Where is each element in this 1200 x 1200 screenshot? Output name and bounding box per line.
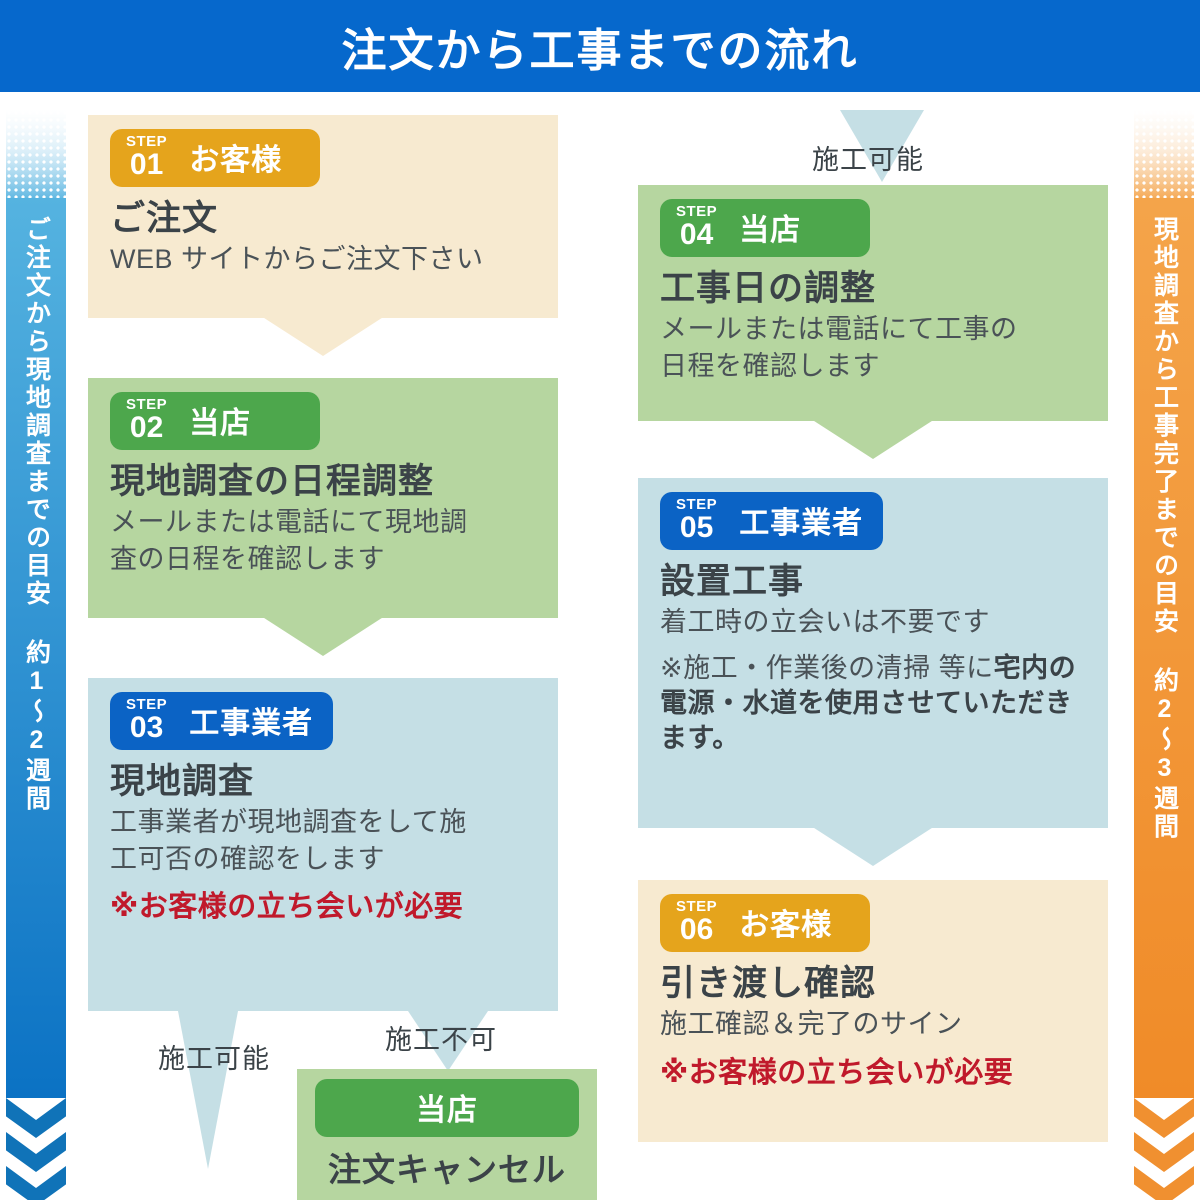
flow-label-construction-impossible: 施工不可 (385, 1018, 497, 1057)
step-number: 02 (130, 413, 163, 443)
flow-arrow-down (261, 616, 385, 656)
step-word: STEP (676, 899, 717, 914)
step-attendance-note: ※お客様の立ち会いが必要 (110, 883, 536, 925)
step-badge-05: STEP 05 工事業者 (660, 492, 883, 550)
step-word: STEP (126, 134, 167, 149)
flow-arrow-down (811, 419, 935, 459)
step-badge-02: STEP 02 当店 (110, 392, 320, 450)
step-word: STEP (676, 204, 717, 219)
step-card-01[interactable]: STEP 01 お客様 ご注文 WEB サイトからご注文下さい (88, 115, 558, 318)
cancel-text: 注文キャンセル (315, 1143, 579, 1191)
step-badge-04: STEP 04 当店 (660, 199, 870, 257)
step-body-secondary-normal: ※施工・作業後の清掃 等に (660, 653, 994, 683)
step-card-05[interactable]: STEP 05 工事業者 設置工事 着工時の立会いは不要です ※施工・作業後の清… (638, 478, 1108, 828)
rail-chevrons-left (6, 1098, 66, 1200)
step-role-label: お客様 (189, 135, 282, 179)
rail-label-right: 現地調査から工事完了までの目安 約2〜3週間 (1152, 216, 1177, 841)
step-role-label: 当店 (739, 205, 801, 249)
step-card-02[interactable]: STEP 02 当店 現地調査の日程調整 メールまたは電話にて現地調 査の日程を… (88, 378, 558, 618)
step-body: メールまたは電話にて工事の 日程を確認します (660, 311, 1086, 384)
chevron-down-icon (6, 1098, 66, 1138)
step-badge-01: STEP 01 お客様 (110, 129, 320, 187)
step-number-group: STEP 04 (676, 204, 717, 250)
step-card-03[interactable]: STEP 03 工事業者 現地調査 工事業者が現地調査をして施 工可否の確認をし… (88, 678, 558, 1011)
step-body-secondary: ※施工・作業後の清掃 等に宅内の電源・水道を使用させていただきます。 (660, 651, 1086, 756)
timeline-rail-left: ご注文から現地調査までの目安 約1〜2週間 (6, 110, 66, 1200)
flow-arrow-down (811, 826, 935, 866)
step-word: STEP (126, 697, 167, 712)
step-body: WEB サイトからご注文下さい (110, 241, 536, 277)
step-role-label: お客様 (739, 900, 832, 944)
step-body: 工事業者が現地調査をして施 工可否の確認をします (110, 804, 536, 877)
rail-body-right: 現地調査から工事完了までの目安 約2〜3週間 (1134, 198, 1194, 1098)
step-number: 04 (680, 220, 713, 250)
rail-dot-gradient-left (6, 110, 66, 202)
flow-label-construction-possible-bottom: 施工可能 (158, 1037, 270, 1076)
step-body: 着工時の立会いは不要です (660, 604, 1086, 640)
step-title: 現地調査 (110, 762, 536, 802)
step-role-label: 当店 (189, 398, 251, 442)
flow-arrow-construction-possible-down (178, 1011, 238, 1169)
step-card-06[interactable]: STEP 06 お客様 引き渡し確認 施工確認＆完了のサイン ※お客様の立ち会い… (638, 880, 1108, 1142)
step-body: メールまたは電話にて現地調 査の日程を確認します (110, 504, 536, 577)
cancel-role-label: 当店 (315, 1079, 579, 1137)
rail-dot-gradient-right (1134, 110, 1194, 202)
step-body: 施工確認＆完了のサイン (660, 1006, 1086, 1042)
step-role-label: 工事業者 (739, 498, 863, 542)
step-number: 01 (130, 150, 163, 180)
order-cancel-card[interactable]: 当店 注文キャンセル (297, 1069, 597, 1200)
step-number-group: STEP 01 (126, 134, 167, 180)
step-badge-06: STEP 06 お客様 (660, 894, 870, 952)
step-number-group: STEP 06 (676, 899, 717, 945)
step-number-group: STEP 05 (676, 497, 717, 543)
step-word: STEP (126, 397, 167, 412)
step-title: 引き渡し確認 (660, 964, 1086, 1004)
step-word: STEP (676, 497, 717, 512)
step-card-04[interactable]: STEP 04 当店 工事日の調整 メールまたは電話にて工事の 日程を確認します (638, 185, 1108, 421)
step-number-group: STEP 03 (126, 697, 167, 743)
page-header: 注文から工事までの流れ (0, 0, 1200, 92)
step-number-group: STEP 02 (126, 397, 167, 443)
chevron-down-icon (6, 1132, 66, 1172)
step-title: 現地調査の日程調整 (110, 462, 536, 502)
step-title: ご注文 (110, 199, 536, 239)
page-title: 注文から工事までの流れ (341, 14, 858, 79)
rail-chevrons-right (1134, 1098, 1194, 1200)
step-title: 工事日の調整 (660, 269, 1086, 309)
timeline-rail-right: 現地調査から工事完了までの目安 約2〜3週間 (1134, 110, 1194, 1200)
step-badge-03: STEP 03 工事業者 (110, 692, 333, 750)
rail-label-left: ご注文から現地調査までの目安 約1〜2週間 (24, 216, 49, 813)
flow-arrow-down (261, 316, 385, 356)
chevron-down-icon (1134, 1132, 1194, 1172)
flow-label-construction-possible-top: 施工可能 (812, 138, 924, 177)
chevron-down-icon (1134, 1098, 1194, 1138)
step-number: 06 (680, 915, 713, 945)
step-attendance-note: ※お客様の立ち会いが必要 (660, 1049, 1086, 1091)
rail-body-left: ご注文から現地調査までの目安 約1〜2週間 (6, 198, 66, 1098)
step-role-label: 工事業者 (189, 698, 313, 742)
step-title: 設置工事 (660, 562, 1086, 602)
step-number: 05 (680, 513, 713, 543)
step-number: 03 (130, 713, 163, 743)
